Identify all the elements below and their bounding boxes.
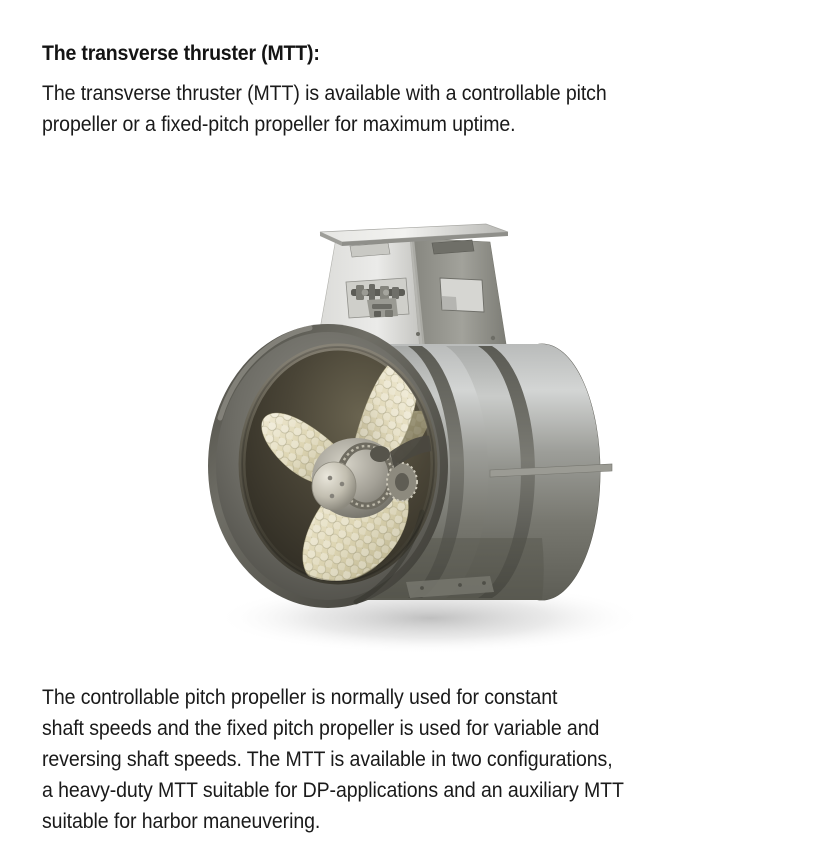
outro-line-3: reversing shaft speeds. The MTT is avail… — [42, 744, 786, 775]
outro-line-4: a heavy-duty MTT suitable for DP-applica… — [42, 775, 786, 806]
outro-line-5: suitable for harbor maneuvering. — [42, 806, 786, 837]
thruster-product-image — [160, 186, 720, 686]
hub-blade-root-flange — [312, 462, 356, 510]
intro-line-2: propeller or a fixed-pitch propeller for… — [42, 109, 777, 140]
gearbox-cutout-window — [346, 278, 409, 318]
intro-paragraph: The transverse thruster (MTT) is availab… — [42, 78, 777, 140]
right-plate-window-shade — [442, 296, 457, 310]
page-title: The transverse thruster (MTT): — [42, 40, 730, 68]
hub-gear-secondary — [387, 463, 417, 501]
outro-line-1: The controllable pitch propeller is norm… — [42, 682, 786, 713]
outro-paragraph: The controllable pitch propeller is norm… — [42, 682, 786, 837]
intro-line-1: The transverse thruster (MTT) is availab… — [42, 78, 777, 109]
outro-line-2: shaft speeds and the fixed pitch propell… — [42, 713, 786, 744]
page-root: The transverse thruster (MTT): The trans… — [0, 0, 830, 863]
